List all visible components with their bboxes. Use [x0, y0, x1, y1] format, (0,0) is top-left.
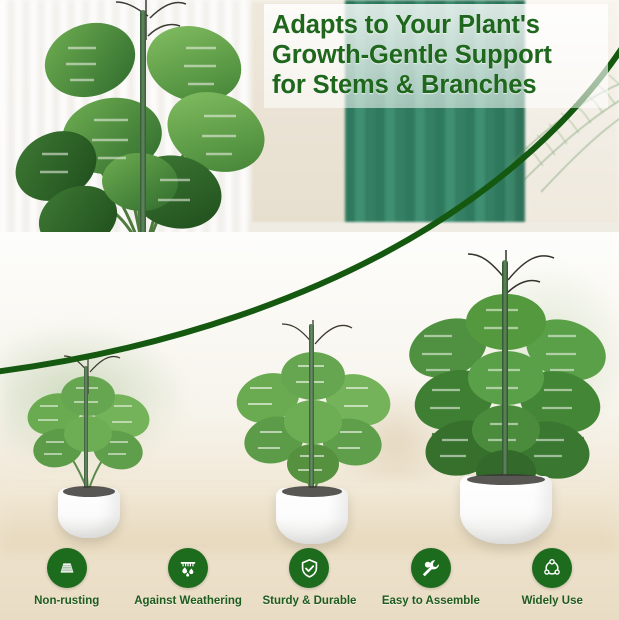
- shield-check-icon: [289, 548, 329, 588]
- product-feature-image: Adapts to Your Plant's Growth-Gentle Sup…: [0, 0, 619, 620]
- rain-weathering-icon: [168, 548, 208, 588]
- feature-label: Widely Use: [522, 595, 583, 607]
- stake-large: [502, 260, 508, 506]
- pot-medium: [276, 488, 348, 544]
- feature-label: Sturdy & Durable: [263, 595, 357, 607]
- anti-rust-plate-icon: [47, 548, 87, 588]
- feature-against-weathering: Against Weathering: [129, 548, 247, 607]
- feature-sturdy-durable: Sturdy & Durable: [250, 548, 368, 607]
- plant-small: [18, 342, 158, 532]
- feature-bar: Non-rusting Against Weathering: [0, 548, 619, 620]
- network-nodes-icon: [532, 548, 572, 588]
- pot-large: [460, 476, 552, 544]
- feature-widely-use: Widely Use: [493, 548, 611, 607]
- page-title: Adapts to Your Plant's Growth-Gentle Sup…: [272, 10, 612, 100]
- feature-label: Easy to Assemble: [382, 595, 480, 607]
- plant-small-foliage: [18, 342, 158, 502]
- pot-small: [58, 488, 120, 538]
- headline-line-3: for Stems & Branches: [272, 70, 612, 100]
- stake-medium: [309, 324, 314, 510]
- plant-large: [396, 244, 616, 544]
- feature-easy-to-assemble: Easy to Assemble: [372, 548, 490, 607]
- feature-non-rusting: Non-rusting: [8, 548, 126, 607]
- feature-label: Against Weathering: [134, 595, 242, 607]
- stake-small: [84, 366, 88, 500]
- headline-line-1: Adapts to Your Plant's: [272, 10, 612, 40]
- feature-label: Non-rusting: [34, 595, 99, 607]
- wrench-icon: [411, 548, 451, 588]
- headline-line-2: Growth-Gentle Support: [272, 40, 612, 70]
- plant-medium: [228, 310, 398, 535]
